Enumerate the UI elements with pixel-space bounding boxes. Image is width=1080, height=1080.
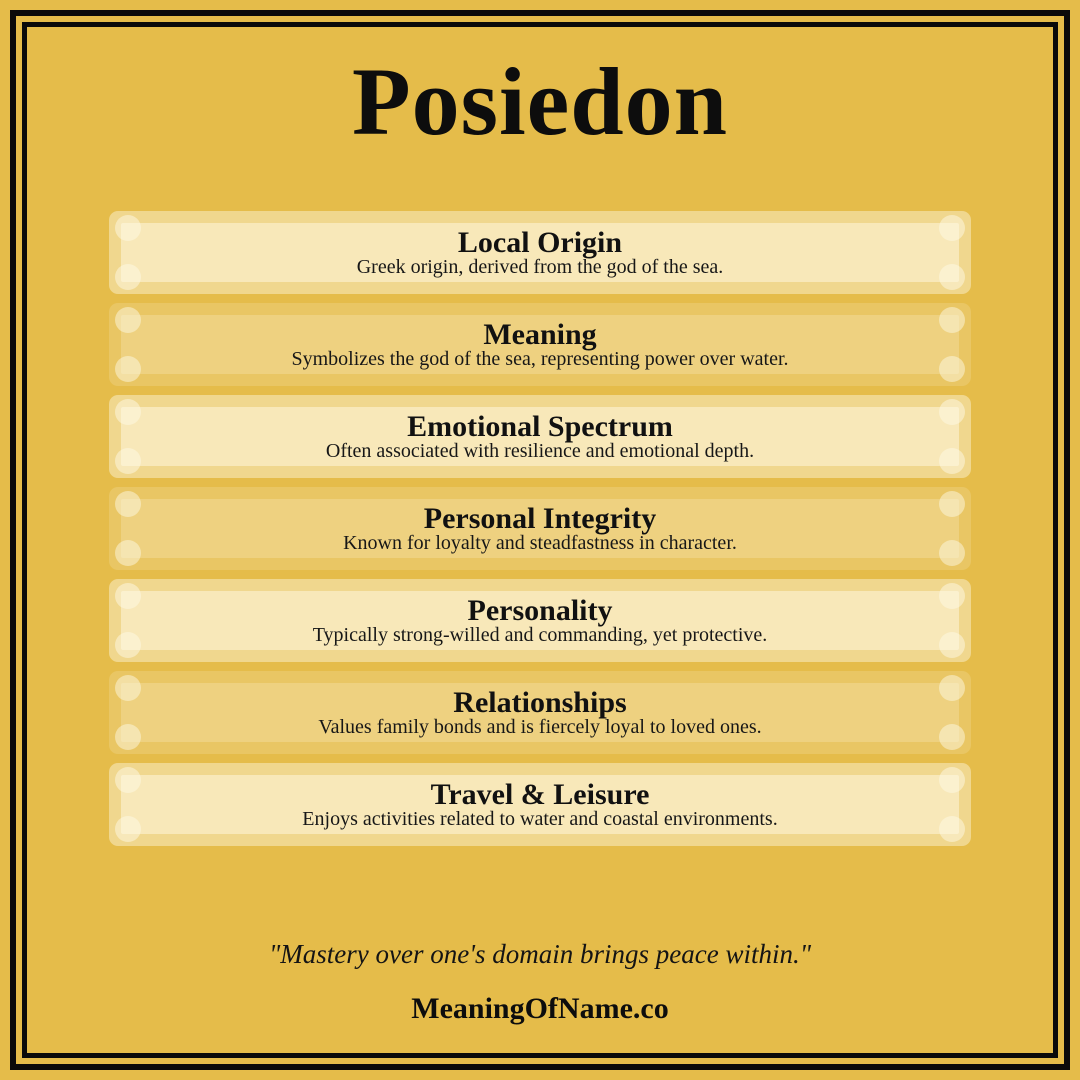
section-card-body: Emotional Spectrum Often associated with… xyxy=(121,407,959,466)
section-card: Travel & Leisure Enjoys activities relat… xyxy=(109,763,971,846)
section-card-body: Personal Integrity Known for loyalty and… xyxy=(121,499,959,558)
section-card-body: Local Origin Greek origin, derived from … xyxy=(121,223,959,282)
section-title: Personal Integrity xyxy=(424,504,656,534)
section-title: Local Origin xyxy=(458,228,622,258)
section-title: Meaning xyxy=(483,320,596,350)
section-description: Typically strong-willed and commanding, … xyxy=(313,625,768,645)
section-card: Local Origin Greek origin, derived from … xyxy=(109,211,971,294)
brand-name: MeaningOfName.co xyxy=(411,992,668,1026)
section-description: Symbolizes the god of the sea, represent… xyxy=(291,349,788,369)
section-card: Personal Integrity Known for loyalty and… xyxy=(109,487,971,570)
section-card-body: Personality Typically strong-willed and … xyxy=(121,591,959,650)
section-card: Personality Typically strong-willed and … xyxy=(109,579,971,662)
section-card-body: Relationships Values family bonds and is… xyxy=(121,683,959,742)
section-title: Relationships xyxy=(453,688,626,718)
poster: Posiedon Local Origin Greek origin, deri… xyxy=(0,0,1080,1080)
section-title: Personality xyxy=(468,596,613,626)
section-description: Known for loyalty and steadfastness in c… xyxy=(343,533,737,553)
section-card-body: Travel & Leisure Enjoys activities relat… xyxy=(121,775,959,834)
section-description: Often associated with resilience and emo… xyxy=(326,441,754,461)
section-card: Meaning Symbolizes the god of the sea, r… xyxy=(109,303,971,386)
poster-footer: "Mastery over one's domain brings peace … xyxy=(27,939,1053,1053)
section-card: Emotional Spectrum Often associated with… xyxy=(109,395,971,478)
section-title: Emotional Spectrum xyxy=(407,412,673,442)
section-card-list: Local Origin Greek origin, derived from … xyxy=(109,211,971,846)
section-description: Greek origin, derived from the god of th… xyxy=(357,257,724,277)
poster-content: Posiedon Local Origin Greek origin, deri… xyxy=(27,27,1053,1053)
section-description: Enjoys activities related to water and c… xyxy=(302,809,777,829)
section-title: Travel & Leisure xyxy=(431,780,650,810)
section-card-body: Meaning Symbolizes the god of the sea, r… xyxy=(121,315,959,374)
section-description: Values family bonds and is fiercely loya… xyxy=(318,717,761,737)
footer-quote: "Mastery over one's domain brings peace … xyxy=(269,939,811,970)
page-title: Posiedon xyxy=(352,49,728,155)
section-card: Relationships Values family bonds and is… xyxy=(109,671,971,754)
